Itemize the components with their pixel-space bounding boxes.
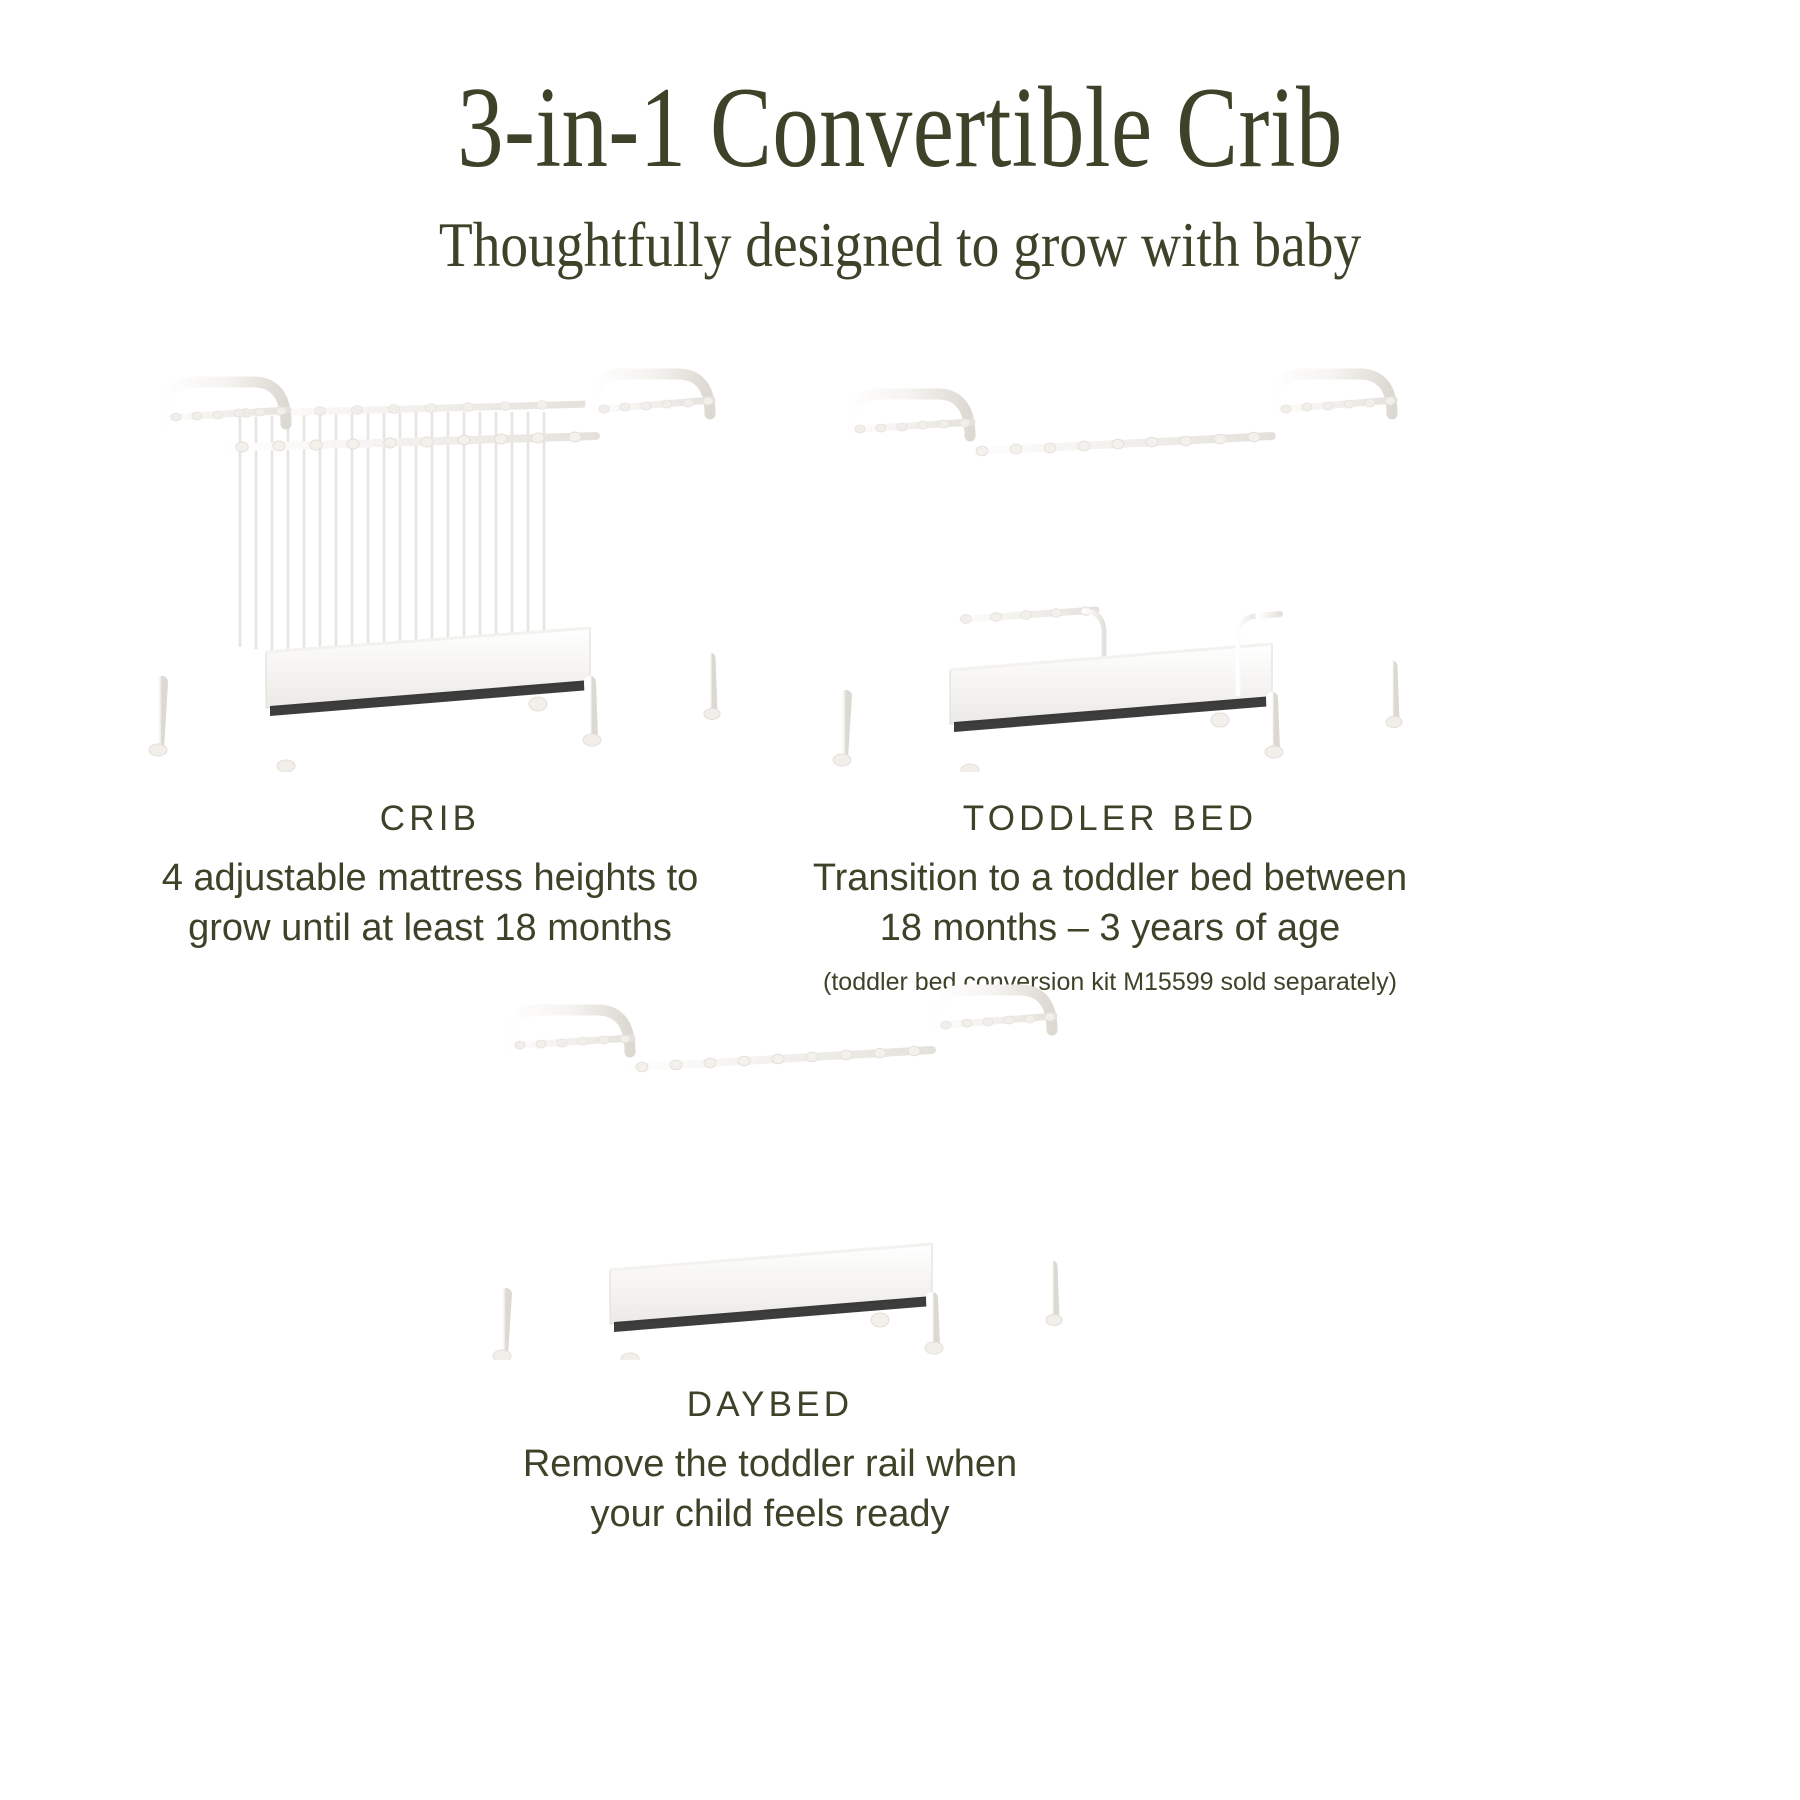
crib-description-line-1: 4 adjustable mattress heights to [120, 853, 740, 904]
beaded-rail-far [964, 432, 1272, 456]
leg-front-right [583, 682, 601, 746]
leg-back-right [1046, 1266, 1062, 1326]
crib-label: CRIB [120, 800, 740, 839]
leg-front-right [925, 1298, 943, 1354]
header: 3-in-1 Convertible Crib Thoughtfully des… [0, 70, 1800, 277]
product-panel-toddler-bed: TODDLER BED Transition to a toddler bed … [800, 352, 1420, 998]
infographic-page: 3-in-1 Convertible Crib Thoughtfully des… [0, 0, 1800, 1800]
daybed-illustration [460, 940, 1080, 1360]
toddler-bed-description-line-1: Transition to a toddler bed between [800, 853, 1420, 904]
leg-back-right [1386, 666, 1402, 728]
leg-back-right [704, 658, 720, 720]
crib-illustration [120, 352, 740, 772]
page-title: 3-in-1 Convertible Crib [180, 70, 1620, 186]
toddler-bed-illustration [800, 352, 1420, 772]
daybed-description-line-1: Remove the toddler rail when [460, 1439, 1080, 1490]
daybed-label: DAYBED [460, 1386, 1080, 1425]
leg-front-left [833, 696, 851, 766]
headboard-left [833, 394, 979, 772]
headboard-left [493, 1010, 639, 1360]
crib-description: 4 adjustable mattress heights to grow un… [120, 853, 740, 954]
product-panel-crib: CRIB 4 adjustable mattress heights to gr… [120, 352, 740, 954]
leg-front-right [1265, 698, 1283, 758]
page-subtitle: Thoughtfully designed to grow with baby [108, 214, 1692, 277]
beaded-rail-far [624, 1046, 932, 1072]
beaded-rail-front [224, 432, 596, 452]
toddler-bed-description: Transition to a toddler bed between 18 m… [800, 853, 1420, 954]
daybed-description: Remove the toddler rail when your child … [460, 1439, 1080, 1540]
daybed-caption: DAYBED Remove the toddler rail when your… [460, 1386, 1080, 1540]
crib-caption: CRIB 4 adjustable mattress heights to gr… [120, 800, 740, 954]
product-panel-daybed: DAYBED Remove the toddler rail when your… [460, 940, 1080, 1540]
daybed-description-line-2: your child feels ready [460, 1489, 1080, 1540]
toddler-bed-label: TODDLER BED [800, 800, 1420, 839]
